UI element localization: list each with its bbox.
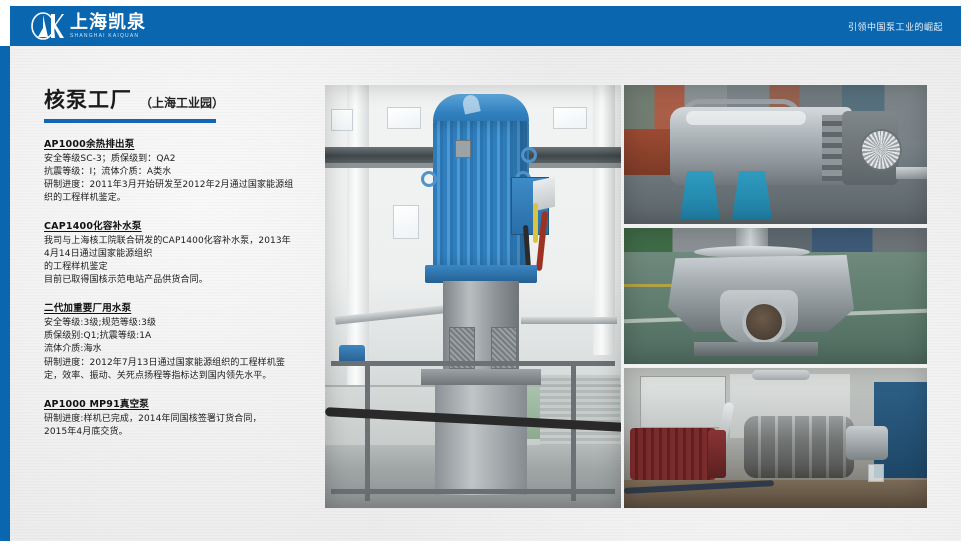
motor-nameplate xyxy=(455,140,471,158)
yellow-cable xyxy=(533,203,538,243)
casing-bolt-row xyxy=(822,115,844,181)
hall-window xyxy=(387,107,421,129)
section-line: 质保级别:Q1;抗震等级:1A xyxy=(44,330,316,343)
pump-pedestal xyxy=(435,385,527,495)
kaiquan-kq-monogram-icon xyxy=(30,11,64,41)
plastic-cup xyxy=(868,464,884,482)
pump-shaft xyxy=(896,167,927,179)
section-line: 流体介质:海水 xyxy=(44,343,316,356)
hall-window xyxy=(553,107,587,129)
section-line: 的工程样机鉴定 xyxy=(44,261,316,274)
section-line: 织的工程样机鉴定。 xyxy=(44,192,316,205)
page-title: 核泵工厂 （上海工业园） xyxy=(44,84,316,114)
header-bar xyxy=(10,6,961,46)
hall-column xyxy=(593,85,615,355)
left-text-column: 核泵工厂 （上海工业园） AP1000余热排出泵 安全等级SC-3；质保级到：Q… xyxy=(44,84,316,439)
left-accent-strip xyxy=(0,46,10,541)
header-slogan: 引领中国泵工业的崛起 xyxy=(848,6,943,46)
section-line: 研制进度：2012年7月13日通过国家能源组织的工程样机鉴 xyxy=(44,357,316,370)
test-rig-frame xyxy=(571,361,576,501)
section-gen2-essential-service-water-pump: 二代加重要厂用水泵 安全等级:3级;规范等级:3级 质保级别:Q1;抗震等级:1… xyxy=(44,300,316,382)
logo-english-name: SHANGHAI KAIQUAN xyxy=(70,34,146,39)
section-line: 抗震等级：Ⅰ；流体介质：A类水 xyxy=(44,166,316,179)
photo-motor-pump-test-bed xyxy=(624,368,927,508)
section-line: 安全等级SC-3；质保级到：QA2 xyxy=(44,153,316,166)
section-ap1000-mp91-vacuum-pump: AP1000 MP91真空泵 研制进度:样机已完成，2014年同国核签署订货合同… xyxy=(44,396,316,439)
lifting-eye-icon xyxy=(421,171,437,187)
steel-pipe xyxy=(521,317,617,324)
cooling-fan-icon xyxy=(860,129,902,171)
shaft-coupling xyxy=(846,426,888,460)
section-heading: 二代加重要厂用水泵 xyxy=(44,300,316,314)
section-line: 研制进度：2011年3月开始研发至2012年2月通过国家能源组 xyxy=(44,179,316,192)
page-title-sub: （上海工业园） xyxy=(140,94,224,111)
section-heading: AP1000 MP91真空泵 xyxy=(44,396,316,410)
section-heading: CAP1400化容补水泵 xyxy=(44,218,316,232)
section-line: 安全等级:3级;规范等级:3级 xyxy=(44,317,316,330)
section-cap1400-makeup-pump: CAP1400化容补水泵 我司与上海核工院联合研发的CAP1400化容补水泵，2… xyxy=(44,218,316,287)
control-cabinet xyxy=(640,376,726,428)
steel-base-plate xyxy=(694,342,818,356)
section-line: 我司与上海核工院联合研发的CAP1400化容补水泵，2013年 xyxy=(44,235,316,248)
section-line: 2015年4月底交货。 xyxy=(44,426,316,439)
logo-chinese-name: 上海凯泉 xyxy=(70,14,146,32)
section-line: 4月14日通过国家能源组织 xyxy=(44,248,316,261)
lifting-eye-icon xyxy=(521,147,537,163)
company-logo[interactable]: 上海凯泉 SHANGHAI KAIQUAN xyxy=(30,6,146,46)
photo-split-case-pump xyxy=(624,85,927,224)
maroon-motor xyxy=(630,428,716,480)
motor-end-bell xyxy=(708,430,726,478)
pump-base-plate xyxy=(421,369,541,385)
hall-window xyxy=(331,109,353,131)
page-title-main: 核泵工厂 xyxy=(44,84,132,114)
motor-top-cap xyxy=(433,94,529,124)
photo-vertical-pump-workshop xyxy=(325,85,621,508)
section-line: 研制进度:样机已完成，2014年同国核签署订货合同， xyxy=(44,413,316,426)
hall-window xyxy=(393,205,419,239)
test-rig-frame xyxy=(331,489,615,494)
slide-root: 上海凯泉 SHANGHAI KAIQUAN 引领中国泵工业的崛起 核泵工厂 （上… xyxy=(0,0,971,548)
section-line: 定，效率、振动、关死点扬程等指标达到国内领先水平。 xyxy=(44,370,316,383)
test-rig-frame xyxy=(365,361,370,501)
wooden-test-bed xyxy=(624,480,927,508)
title-underline xyxy=(44,119,216,123)
casing-highlight xyxy=(686,111,806,125)
overhead-pipe xyxy=(752,370,810,380)
nozzle-bore xyxy=(742,300,786,344)
photo-pump-casing-casting xyxy=(624,228,927,364)
section-heading: AP1000余热排出泵 xyxy=(44,136,316,150)
pump-body-stage-rings xyxy=(744,416,854,478)
section-ap1000-rhr-pump: AP1000余热排出泵 安全等级SC-3；质保级到：QA2 抗震等级：Ⅰ；流体介… xyxy=(44,136,316,205)
section-line: 目前已取得国核示范电站产品供货合同。 xyxy=(44,274,316,287)
